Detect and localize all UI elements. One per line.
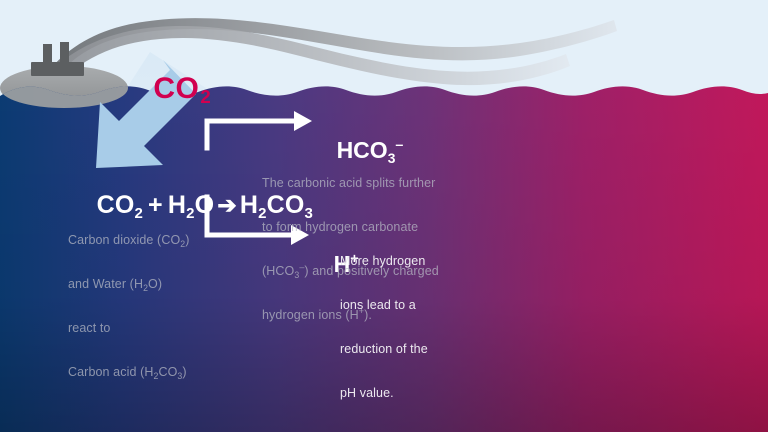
caption-reaction-line-4-b: ) xyxy=(182,365,186,379)
caption-ph-effect-line-1: More hydrogen xyxy=(340,254,452,269)
caption-reaction-line-1-sub: 2 xyxy=(180,239,185,249)
caption-reaction-line-1-b: ) xyxy=(185,233,189,247)
caption-reaction-line-2-b: O) xyxy=(148,277,162,291)
co2-headline: CO2 xyxy=(118,36,210,142)
co2-headline-subscript: 2 xyxy=(200,86,211,107)
caption-reaction-line-4-a: Carbon acid (H xyxy=(68,365,153,379)
caption-dissociation-line-3-sup: – xyxy=(299,262,304,272)
caption-ph-effect-line-4: pH value. xyxy=(340,386,452,401)
caption-dissociation-line-3-a: (HCO xyxy=(262,264,294,278)
caption-reaction-line-3: react to xyxy=(68,321,268,336)
caption-ph-effect-line-2: ions lead to a xyxy=(340,298,452,313)
caption-reaction-line-4: Carbon acid (H2CO3) xyxy=(68,365,268,380)
caption-reaction-line-1: Carbon dioxide (CO2) xyxy=(68,233,268,248)
caption-reaction-line-4-sub-2: 3 xyxy=(177,371,182,381)
caption-dissociation-line-1: The carbonic acid splits further xyxy=(262,176,452,191)
co2-headline-label: CO xyxy=(153,72,199,105)
caption-ph-effect-line-3: reduction of the xyxy=(340,342,452,357)
caption-reaction-line-2-a: and Water (H xyxy=(68,277,143,291)
caption-reaction-line-4-mid: CO xyxy=(158,365,177,379)
caption-reaction-line-2: and Water (H2O) xyxy=(68,277,268,292)
caption-ph-effect: More hydrogen ions lead to a reduction o… xyxy=(340,224,452,431)
infographic-canvas: CO2 CO2+H2O➔H2CO3 HCO3– H+ Carbon dioxid… xyxy=(0,0,768,432)
caption-reaction-line-2-sub: 2 xyxy=(143,283,148,293)
caption-reaction: Carbon dioxide (CO2) and Water (H2O) rea… xyxy=(68,203,268,410)
caption-reaction-line-4-sub-1: 2 xyxy=(153,371,158,381)
caption-reaction-line-1-a: Carbon dioxide (CO xyxy=(68,233,180,247)
